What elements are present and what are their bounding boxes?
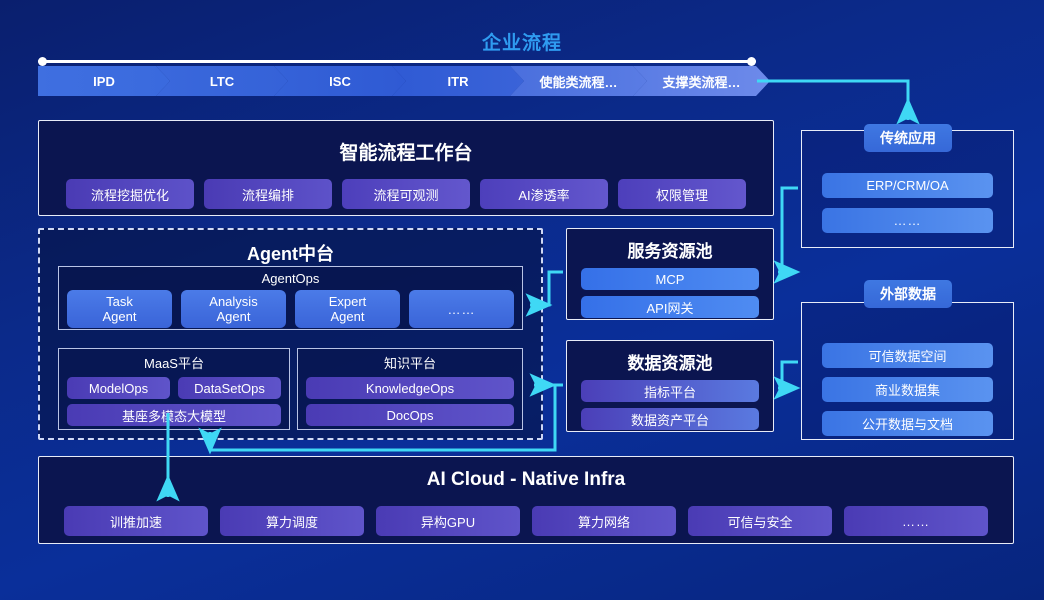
knowledge-item-label: KnowledgeOps: [366, 381, 454, 396]
infra-panel: AI Cloud - Native Infra 训推加速 算力调度 异构GPU …: [38, 456, 1014, 544]
service-pool-title: 服务资源池: [567, 237, 773, 262]
process-step-label: IPD: [93, 74, 115, 89]
agent-card-label: Task Agent: [103, 294, 137, 324]
maas-item-datasetops[interactable]: DataSetOps: [178, 377, 281, 399]
maas-item-label: ModelOps: [89, 381, 148, 396]
infra-item-label: 异构GPU: [421, 512, 475, 531]
infra-item-label: 可信与安全: [727, 512, 792, 531]
process-rail-dot-left: [38, 57, 47, 66]
data-pool-panel: 数据资源池 指标平台 数据资产平台: [566, 340, 774, 432]
workbench-item-observability[interactable]: 流程可观测: [342, 179, 470, 209]
maas-item-foundation-model[interactable]: 基座多模态大模型: [67, 404, 281, 426]
legacy-app-item-label: ERP/CRM/OA: [866, 178, 948, 193]
process-rail: [38, 60, 756, 63]
legacy-app-badge: 传统应用: [864, 124, 952, 152]
data-pool-item-asset[interactable]: 数据资产平台: [581, 408, 759, 430]
knowledge-item-docops[interactable]: DocOps: [306, 404, 514, 426]
external-data-item-label: 可信数据空间: [868, 346, 946, 365]
external-data-badge-label: 外部数据: [880, 284, 936, 304]
knowledge-panel: 知识平台 KnowledgeOps DocOps: [297, 348, 523, 430]
maas-panel: MaaS平台 ModelOps DataSetOps 基座多模态大模型: [58, 348, 290, 430]
external-data-item-commercial[interactable]: 商业数据集: [822, 377, 993, 402]
data-pool-title: 数据资源池: [567, 349, 773, 374]
external-data-item-label: 商业数据集: [875, 380, 940, 399]
agent-card-expert[interactable]: Expert Agent: [295, 290, 400, 328]
workbench-item-label: 权限管理: [656, 185, 708, 204]
workbench-item-ai-penetration[interactable]: AI渗透率: [480, 179, 608, 209]
agent-card-label: Expert Agent: [329, 294, 367, 324]
workbench-item-row: 流程挖掘优化 流程编排 流程可观测 AI渗透率 权限管理: [39, 179, 773, 209]
knowledge-item-knowledgeops[interactable]: KnowledgeOps: [306, 377, 514, 399]
agent-card-more[interactable]: ……: [409, 290, 514, 328]
connector-external-data-to-data-pool: [778, 362, 798, 388]
process-rail-dot-right: [747, 57, 756, 66]
knowledge-item-label: DocOps: [387, 408, 434, 423]
legacy-app-item-erp[interactable]: ERP/CRM/OA: [822, 173, 993, 198]
connector-legacy-app-to-service-pool: [778, 188, 798, 272]
maas-item-label: 基座多模态大模型: [122, 406, 226, 425]
service-pool-item-mcp[interactable]: MCP: [581, 268, 759, 290]
agent-platform-title: Agent中台: [40, 240, 541, 266]
process-step-label: ISC: [329, 74, 351, 89]
data-pool-item-metrics[interactable]: 指标平台: [581, 380, 759, 402]
workbench-item-label: AI渗透率: [518, 185, 569, 204]
agentops-card-row: Task Agent Analysis Agent Expert Agent ……: [59, 290, 522, 328]
workbench-item-label: 流程挖掘优化: [91, 185, 169, 204]
infra-item-compute-network[interactable]: 算力网络: [532, 506, 676, 536]
process-step-isc[interactable]: ISC: [274, 66, 406, 96]
data-pool-item-label: 数据资产平台: [631, 410, 709, 429]
process-step-label: 支撑类流程…: [662, 72, 740, 91]
service-pool-item-label: MCP: [656, 272, 685, 287]
agentops-panel: AgentOps Task Agent Analysis Agent Exper…: [58, 266, 523, 330]
agent-card-label: Analysis Agent: [209, 294, 257, 324]
service-pool-panel: 服务资源池 MCP API网关: [566, 228, 774, 320]
infra-item-more[interactable]: ……: [844, 506, 988, 536]
workbench-item-label: 流程编排: [242, 185, 294, 204]
page-title: 企业流程: [0, 28, 1044, 55]
legacy-app-badge-label: 传统应用: [880, 128, 936, 148]
external-data-badge: 外部数据: [864, 280, 952, 308]
knowledge-title: 知识平台: [298, 353, 522, 372]
infra-item-label: 算力调度: [266, 512, 318, 531]
legacy-app-item-more[interactable]: ……: [822, 208, 993, 233]
process-step-enabling[interactable]: 使能类流程…: [510, 66, 647, 96]
service-pool-item-label: API网关: [647, 298, 694, 317]
service-pool-item-api-gateway[interactable]: API网关: [581, 296, 759, 318]
architecture-diagram: 企业流程 IPD LTC ISC ITR 使能类流程… 支撑类流程… 智能流程工…: [0, 0, 1044, 600]
process-step-itr[interactable]: ITR: [392, 66, 524, 96]
workbench-item-label: 流程可观测: [373, 185, 438, 204]
external-data-item-label: 公开数据与文档: [862, 414, 953, 433]
maas-item-modelops[interactable]: ModelOps: [67, 377, 170, 399]
process-step-label: 使能类流程…: [539, 72, 617, 91]
maas-ops-row: ModelOps DataSetOps: [59, 377, 289, 399]
agentops-title: AgentOps: [59, 271, 522, 286]
infra-item-row: 训推加速 算力调度 异构GPU 算力网络 可信与安全 ……: [39, 506, 1013, 536]
infra-title: AI Cloud - Native Infra: [39, 469, 1013, 491]
infra-item-label: 训推加速: [110, 512, 162, 531]
workbench-title: 智能流程工作台: [39, 138, 773, 165]
external-data-item-trusted-space[interactable]: 可信数据空间: [822, 343, 993, 368]
infra-item-trust-security[interactable]: 可信与安全: [688, 506, 832, 536]
process-step-label: ITR: [448, 74, 469, 89]
connector-process-to-legacy-app: [757, 81, 908, 120]
process-chevron-bar: IPD LTC ISC ITR 使能类流程… 支撑类流程…: [38, 66, 756, 96]
maas-item-label: DataSetOps: [194, 381, 265, 396]
workbench-item-permission[interactable]: 权限管理: [618, 179, 746, 209]
workbench-panel: 智能流程工作台 流程挖掘优化 流程编排 流程可观测 AI渗透率 权限管理: [38, 120, 774, 216]
workbench-item-orchestration[interactable]: 流程编排: [204, 179, 332, 209]
external-data-panel: 可信数据空间 商业数据集 公开数据与文档: [801, 302, 1014, 440]
process-step-ltc[interactable]: LTC: [156, 66, 288, 96]
process-step-supporting[interactable]: 支撑类流程…: [633, 66, 770, 96]
data-pool-item-label: 指标平台: [644, 382, 696, 401]
infra-item-heterogeneous-gpu[interactable]: 异构GPU: [376, 506, 520, 536]
agent-card-analysis[interactable]: Analysis Agent: [181, 290, 286, 328]
infra-item-label: 算力网络: [578, 512, 630, 531]
agent-card-task[interactable]: Task Agent: [67, 290, 172, 328]
process-step-label: LTC: [210, 74, 234, 89]
maas-title: MaaS平台: [59, 353, 289, 372]
infra-item-label: ……: [902, 514, 930, 529]
external-data-item-public[interactable]: 公开数据与文档: [822, 411, 993, 436]
infra-item-training-acceleration[interactable]: 训推加速: [64, 506, 208, 536]
process-step-ipd[interactable]: IPD: [38, 66, 170, 96]
legacy-app-item-label: ……: [894, 213, 922, 228]
agent-card-label: ……: [448, 302, 476, 317]
infra-item-compute-scheduling[interactable]: 算力调度: [220, 506, 364, 536]
workbench-item-process-mining[interactable]: 流程挖掘优化: [66, 179, 194, 209]
